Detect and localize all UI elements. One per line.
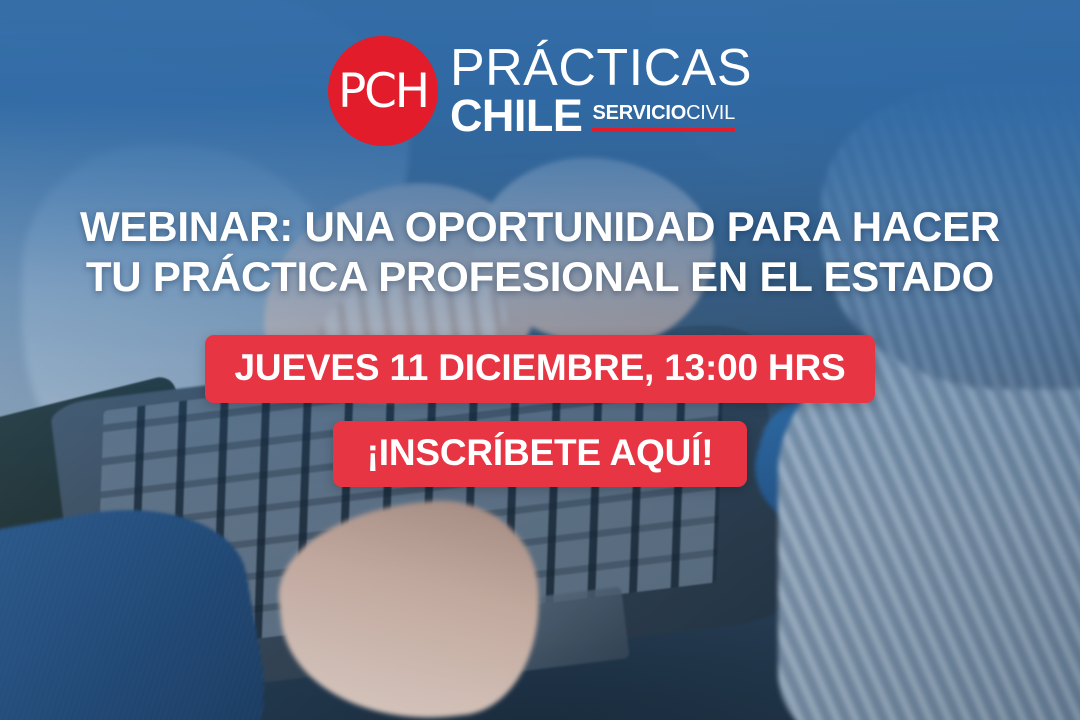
logo-wordmark: PRÁCTICAS CHILE SERVICIO CIVIL bbox=[450, 45, 752, 138]
logo-word-chile: CHILE bbox=[450, 95, 583, 138]
pch-monogram: PCH bbox=[338, 68, 428, 115]
logo-word-practicas: PRÁCTICAS bbox=[450, 45, 752, 93]
webinar-promo-banner: PCH PRÁCTICAS CHILE SERVICIO CIVIL bbox=[0, 0, 1080, 720]
headline-line-2: TU PRÁCTICA PROFESIONAL EN EL ESTADO bbox=[40, 252, 1040, 302]
register-cta-button[interactable]: ¡INSCRÍBETE AQUÍ! bbox=[333, 421, 748, 487]
brand-logo: PCH PRÁCTICAS CHILE SERVICIO CIVIL bbox=[328, 36, 752, 146]
headline-line-1: WEBINAR: UNA OPORTUNIDAD PARA HACER bbox=[40, 202, 1040, 252]
logo-second-line: CHILE SERVICIO CIVIL bbox=[450, 95, 752, 138]
event-date-badge: JUEVES 11 DICIEMBRE, 13:00 HRS bbox=[205, 335, 876, 403]
banner-content: PCH PRÁCTICAS CHILE SERVICIO CIVIL bbox=[0, 0, 1080, 720]
servicio-civil-lockup: SERVICIO CIVIL bbox=[592, 102, 735, 137]
logo-word-civil: CIVIL bbox=[686, 102, 735, 125]
page-title: WEBINAR: UNA OPORTUNIDAD PARA HACER TU P… bbox=[40, 202, 1040, 301]
servicio-civil-red-underline bbox=[592, 128, 735, 132]
servicio-civil-words: SERVICIO CIVIL bbox=[592, 102, 735, 125]
pch-circle-logo-icon: PCH bbox=[328, 36, 438, 146]
logo-word-servicio: SERVICIO bbox=[592, 102, 686, 125]
